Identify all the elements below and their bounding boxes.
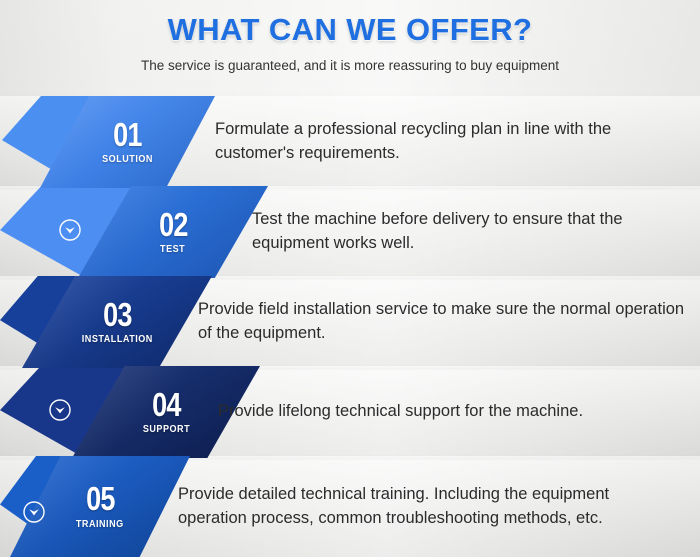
step-description-text: Test the machine before delivery to ensu… xyxy=(252,208,692,256)
step-row-3[interactable]: 03 INSTALLATION Provide field installati… xyxy=(0,276,700,368)
step-row-2[interactable]: 02 TEST Test the machine before delivery… xyxy=(0,186,700,278)
step-number: 04 xyxy=(152,389,180,420)
step-row-5[interactable]: 05 TRAINING Provide detailed technical t… xyxy=(0,456,700,557)
step-row-1[interactable]: 01 SOLUTION Formulate a professional rec… xyxy=(0,96,700,188)
chevron-down-circle-icon[interactable] xyxy=(48,398,72,422)
chevron-down-circle-icon[interactable] xyxy=(22,500,46,524)
step-description-1: Formulate a professional recycling plan … xyxy=(215,96,685,188)
step-description-text: Formulate a professional recycling plan … xyxy=(215,118,685,166)
steps-list: 01 SOLUTION Formulate a professional rec… xyxy=(0,96,700,557)
step-description-5: Provide detailed technical training. Inc… xyxy=(178,456,678,557)
page-subtitle: The service is guaranteed, and it is mor… xyxy=(0,58,700,73)
step-label: SUPPORT xyxy=(142,423,189,435)
step-description-text: Provide lifelong technical support for t… xyxy=(218,400,583,424)
step-description-2: Test the machine before delivery to ensu… xyxy=(252,186,692,278)
step-description-4: Provide lifelong technical support for t… xyxy=(218,366,678,458)
step-row-4[interactable]: 04 SUPPORT Provide lifelong technical su… xyxy=(0,366,700,458)
page-title: WHAT CAN WE OFFER? xyxy=(0,0,700,48)
step-number: 01 xyxy=(113,119,141,150)
step-label: TEST xyxy=(160,243,185,255)
step-number: 02 xyxy=(159,209,187,240)
step-number: 03 xyxy=(103,299,131,330)
header: WHAT CAN WE OFFER? The service is guaran… xyxy=(0,0,700,96)
step-description-text: Provide detailed technical training. Inc… xyxy=(178,483,678,531)
offer-infographic: WHAT CAN WE OFFER? The service is guaran… xyxy=(0,0,700,557)
step-description-3: Provide field installation service to ma… xyxy=(198,276,688,368)
step-description-text: Provide field installation service to ma… xyxy=(198,298,688,346)
chevron-down-circle-icon[interactable] xyxy=(58,218,82,242)
step-label: TRAINING xyxy=(76,518,124,530)
step-label: INSTALLATION xyxy=(81,333,152,345)
step-label: SOLUTION xyxy=(102,153,153,165)
step-number: 05 xyxy=(86,483,114,514)
